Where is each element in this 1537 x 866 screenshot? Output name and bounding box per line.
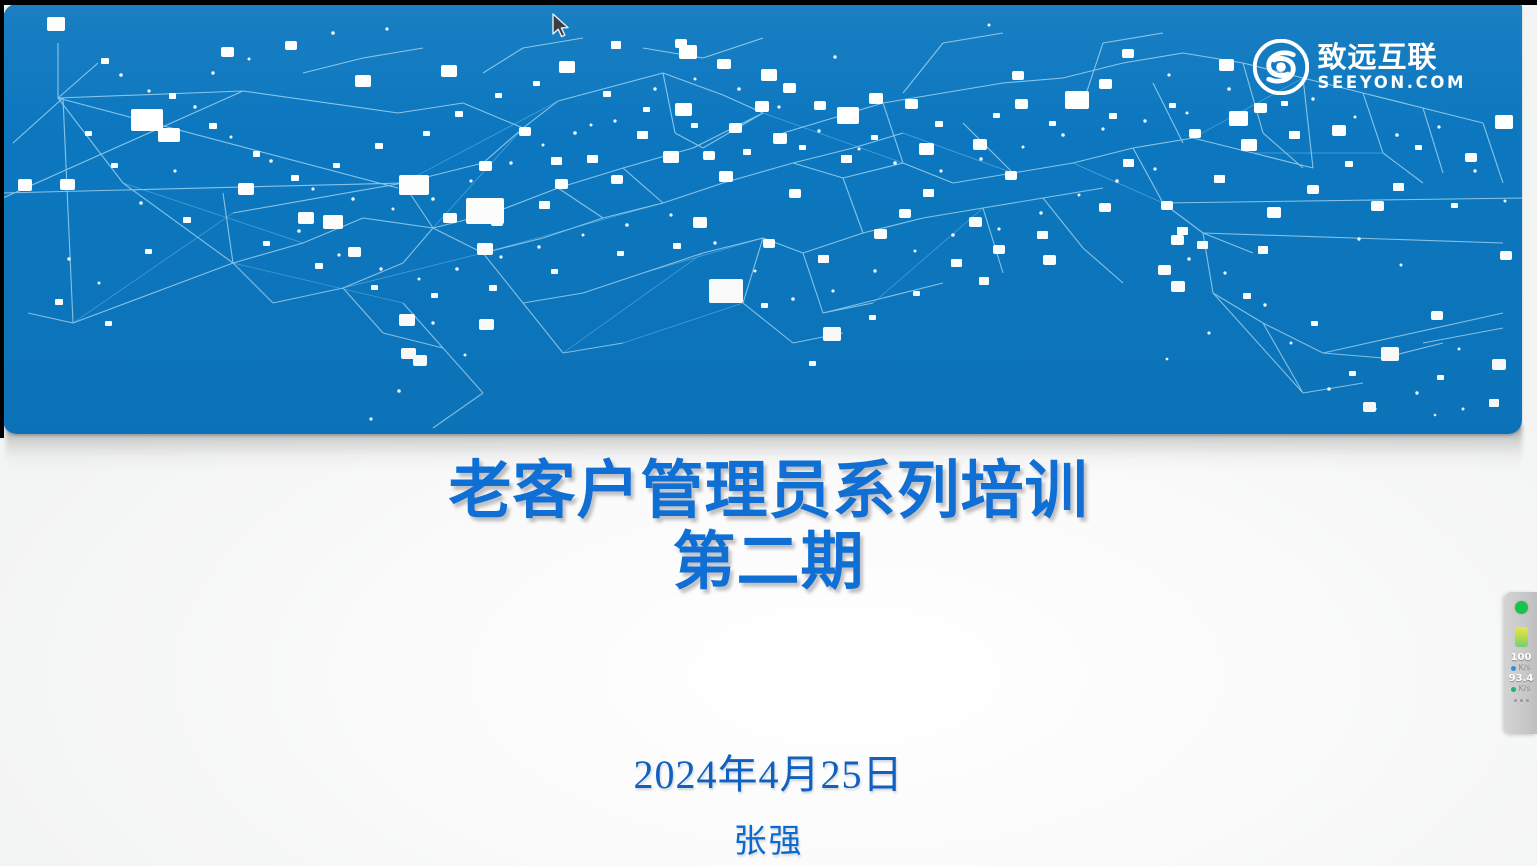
seeyon-spiral-globe-icon [1253, 39, 1309, 95]
top-edge-bar [0, 0, 1537, 5]
upload-speed-value: 100 [1505, 653, 1537, 663]
title-line-2: 第二期 [0, 527, 1537, 598]
upload-speed-stat: 100 K/s [1505, 653, 1537, 672]
download-speed-unit-row: K/s [1505, 685, 1537, 693]
left-edge-bar [0, 0, 4, 438]
download-speed-stat: 93.4 K/s [1505, 674, 1537, 693]
floating-system-monitor-widget[interactable]: 100 K/s 93.4 K/s [1505, 592, 1537, 734]
upload-speed-unit-row: K/s [1505, 664, 1537, 672]
slide-subtitle: 2024年4月25日 张强 [0, 742, 1537, 862]
presentation-slide: 致远互联 SEEYON.COM 老客户管理员系列培训 第二期 2024年4月25… [0, 0, 1537, 866]
status-indicator-dot[interactable] [1515, 601, 1528, 614]
brand-name-cn: 致远互联 [1318, 43, 1466, 72]
title-line-1: 老客户管理员系列培训 [0, 456, 1537, 527]
download-speed-unit: K/s [1518, 685, 1530, 693]
upload-arrow-icon [1511, 666, 1516, 671]
brand-logo-text: 致远互联 SEEYON.COM [1318, 43, 1466, 92]
download-speed-value: 93.4 [1505, 674, 1537, 684]
brand-logo: 致远互联 SEEYON.COM [1253, 39, 1466, 95]
download-arrow-icon [1511, 687, 1516, 692]
brand-name-en: SEEYON.COM [1318, 75, 1466, 92]
resource-gauge-bar [1515, 627, 1528, 647]
upload-speed-unit: K/s [1518, 664, 1530, 672]
widget-more-dots-icon[interactable] [1505, 699, 1537, 702]
slide-title: 老客户管理员系列培训 第二期 [0, 456, 1537, 597]
banner-world-map: 致远互联 SEEYON.COM [3, 3, 1522, 434]
mouse-pointer-icon [550, 12, 572, 42]
presenter-name: 张强 [0, 814, 1537, 862]
presentation-date: 2024年4月25日 [0, 742, 1537, 800]
